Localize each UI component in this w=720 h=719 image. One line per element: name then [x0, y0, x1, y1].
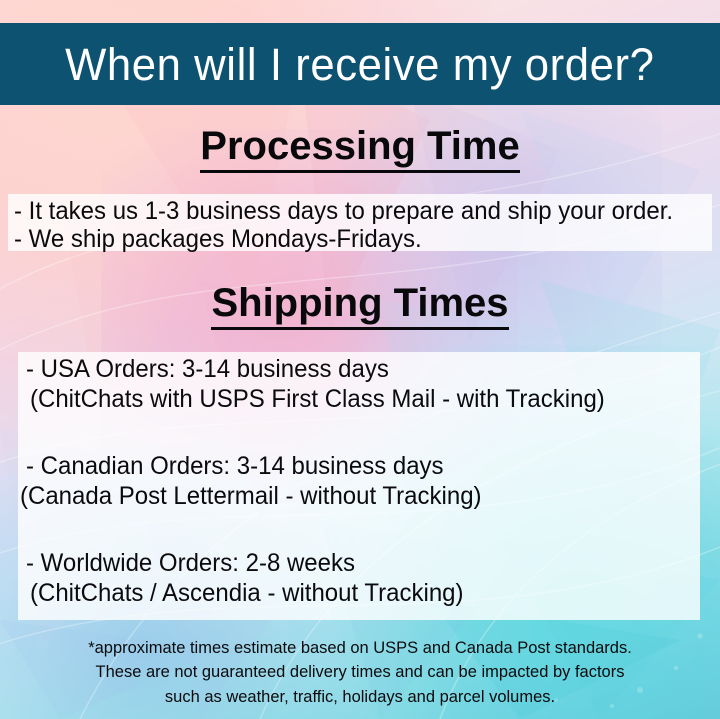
- processing-line-2: - We ship packages Mondays-Fridays.: [14, 225, 422, 253]
- shipping-info-poster: When will I receive my order? Processing…: [0, 0, 720, 719]
- footnote: *approximate times estimate based on USP…: [11, 636, 709, 709]
- processing-time-heading-text: Processing Time: [200, 126, 519, 173]
- shipping-entry-canada-line-1: - Canadian Orders: 3-14 business days: [26, 452, 444, 480]
- processing-time-heading: Processing Time: [0, 126, 720, 173]
- shipping-entry-worldwide-line-2: (ChitChats / Ascendia - without Tracking…: [30, 579, 464, 607]
- shipping-entry-usa-line-2: (ChitChats with USPS First Class Mail - …: [30, 385, 605, 413]
- page-title: When will I receive my order?: [65, 42, 654, 87]
- footnote-line-1: *approximate times estimate based on USP…: [11, 636, 709, 660]
- shipping-entry-worldwide-line-1: - Worldwide Orders: 2-8 weeks: [26, 549, 355, 577]
- shipping-entry-usa-line-1: - USA Orders: 3-14 business days: [26, 355, 389, 383]
- footnote-line-2: These are not guaranteed delivery times …: [11, 660, 709, 684]
- shipping-times-heading-text: Shipping Times: [211, 283, 508, 330]
- header-banner: When will I receive my order?: [0, 23, 720, 105]
- shipping-times-heading: Shipping Times: [0, 283, 720, 330]
- footnote-line-3: such as weather, traffic, holidays and p…: [11, 685, 709, 709]
- processing-line-1: - It takes us 1-3 business days to prepa…: [14, 197, 673, 225]
- shipping-entry-canada-line-2: (Canada Post Lettermail - without Tracki…: [20, 482, 482, 510]
